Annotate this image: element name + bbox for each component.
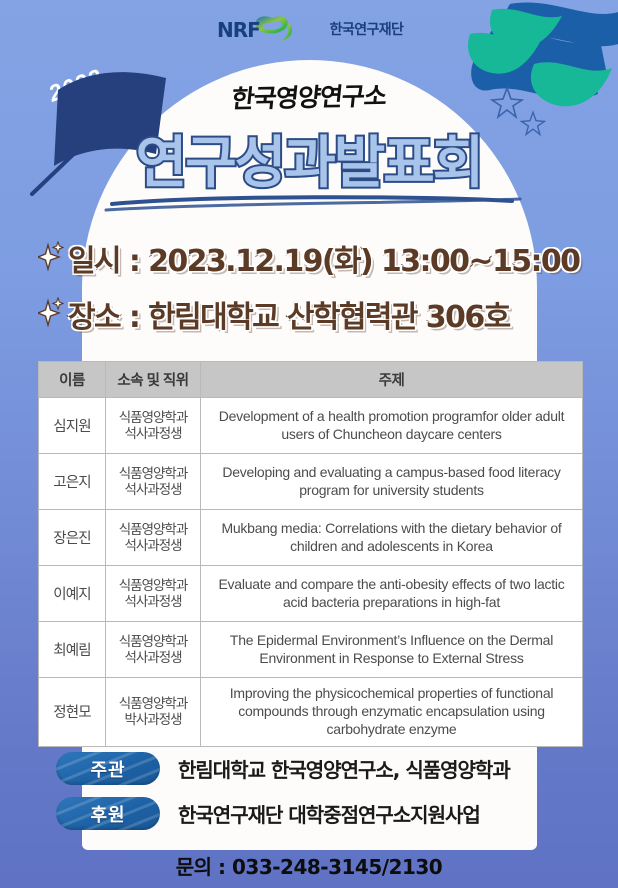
table-body: 심지원식품영양학과석사과정생Development of a health pr…	[39, 398, 583, 747]
table-row: 이예지식품영양학과석사과정생Evaluate and compare the a…	[39, 566, 583, 622]
table-row: 최예림식품영양학과석사과정생The Epidermal Environment’…	[39, 622, 583, 678]
cell-topic: The Epidermal Environment’s Influence on…	[201, 622, 583, 678]
sponsor-row-support: 후원 한국연구재단 대학중점연구소지원사업	[56, 797, 510, 830]
svg-text:NRF: NRF	[217, 18, 260, 42]
table-header-row: 이름 소속 및 직위 주제	[39, 362, 583, 398]
host-badge: 주관	[56, 752, 160, 785]
table-row: 정현모식품영양학과박사과정생Improving the physicochemi…	[39, 678, 583, 747]
cell-dept: 식품영양학과석사과정생	[106, 454, 201, 510]
host-text: 한림대학교 한국영양연구소, 식품영양학과	[178, 754, 510, 783]
cell-name: 정현모	[39, 678, 106, 747]
event-place-row: 장소 : 한림대학교 산학협력관 306호	[38, 292, 579, 336]
support-badge: 후원	[56, 797, 160, 830]
nrf-logo-text: 한국연구재단	[330, 19, 404, 39]
cell-dept: 식품영양학과석사과정생	[106, 622, 201, 678]
event-date-text: 일시 : 2023.12.19(화) 13:00~15:00	[68, 236, 579, 280]
col-header-topic: 주제	[201, 362, 583, 398]
page-title: 연구성과발표회	[0, 118, 618, 199]
cell-dept: 식품영양학과석사과정생	[106, 566, 201, 622]
title-underline-swoosh	[0, 190, 618, 216]
sparkle-icon-2	[38, 297, 64, 331]
event-date-row: 일시 : 2023.12.19(화) 13:00~15:00	[38, 236, 579, 280]
cell-name: 최예림	[39, 622, 106, 678]
sparkle-icon	[38, 241, 64, 275]
support-text: 한국연구재단 대학중점연구소지원사업	[178, 799, 480, 828]
event-place-text: 장소 : 한림대학교 산학협력관 306호	[68, 292, 510, 336]
cell-name: 심지원	[39, 398, 106, 454]
cell-topic: Evaluate and compare the anti-obesity ef…	[201, 566, 583, 622]
sponsor-section: 주관 한림대학교 한국영양연구소, 식품영양학과 후원 한국연구재단 대학중점연…	[56, 752, 510, 842]
nrf-mark-icon: NRF	[215, 14, 323, 44]
program-table: 이름 소속 및 직위 주제 심지원식품영양학과석사과정생Development …	[38, 361, 583, 747]
cell-topic: Developing and evaluating a campus-based…	[201, 454, 583, 510]
cell-topic: Improving the physicochemical properties…	[201, 678, 583, 747]
nrf-logo: NRF 한국연구재단	[0, 14, 618, 44]
cell-name: 고은지	[39, 454, 106, 510]
cell-dept: 식품영양학과석사과정생	[106, 510, 201, 566]
program-table-wrapper: 이름 소속 및 직위 주제 심지원식품영양학과석사과정생Development …	[38, 361, 583, 747]
table-row: 장은진식품영양학과석사과정생Mukbang media: Correlation…	[39, 510, 583, 566]
table-row: 심지원식품영양학과석사과정생Development of a health pr…	[39, 398, 583, 454]
sponsor-row-host: 주관 한림대학교 한국영양연구소, 식품영양학과	[56, 752, 510, 785]
cell-name: 장은진	[39, 510, 106, 566]
cell-dept: 식품영양학과석사과정생	[106, 398, 201, 454]
col-header-dept: 소속 및 직위	[106, 362, 201, 398]
cell-dept: 식품영양학과박사과정생	[106, 678, 201, 747]
cell-topic: Development of a health promotion progra…	[201, 398, 583, 454]
event-info: 일시 : 2023.12.19(화) 13:00~15:00 장소 : 한림대학…	[38, 236, 579, 348]
contact-line: 문의 : 033-248-3145/2130	[0, 851, 618, 880]
cell-topic: Mukbang media: Correlations with the die…	[201, 510, 583, 566]
poster-canvas: NRF 한국연구재단 2023 한국영양연구소 연구성과발표회 일시 : 202…	[0, 0, 618, 888]
cell-name: 이예지	[39, 566, 106, 622]
col-header-name: 이름	[39, 362, 106, 398]
table-row: 고은지식품영양학과석사과정생Developing and evaluating …	[39, 454, 583, 510]
